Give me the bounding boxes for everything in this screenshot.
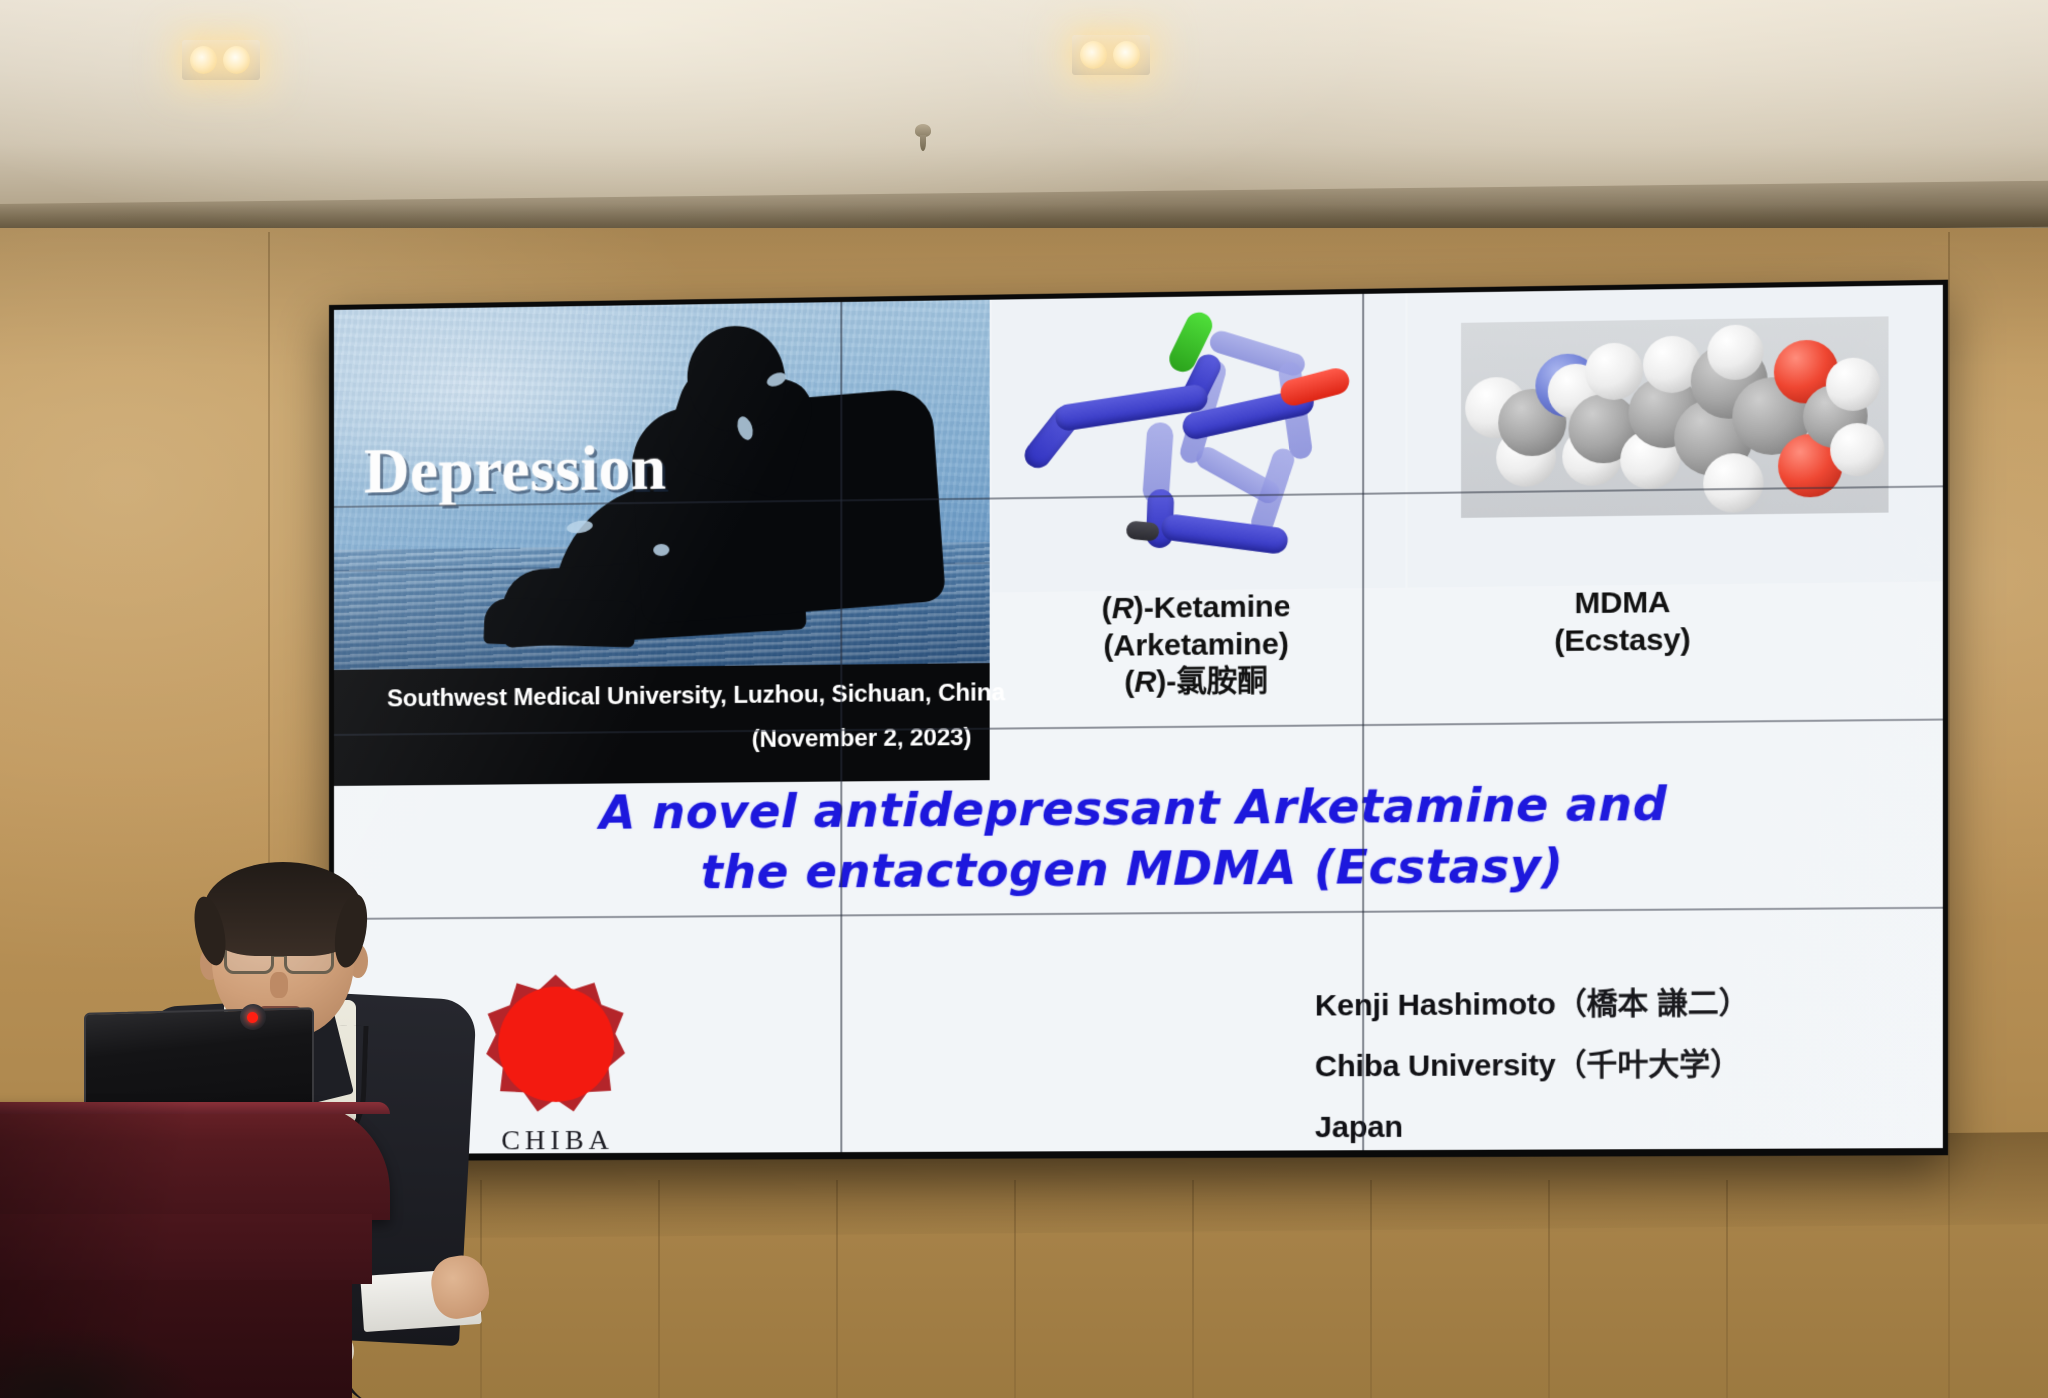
conference-room-scene: Depression Southwest Medical University,… bbox=[0, 0, 2048, 1398]
presentation-slide: Depression Southwest Medical University,… bbox=[334, 285, 1943, 1154]
videowall-bezel-seam bbox=[1362, 294, 1364, 1150]
mdma-alias: (Ecstasy) bbox=[1405, 620, 1840, 662]
ceiling-light-bulb bbox=[1113, 41, 1140, 69]
video-wall-display[interactable]: Depression Southwest Medical University,… bbox=[329, 280, 1948, 1161]
atom-hydrogen bbox=[1826, 357, 1880, 411]
depression-title: Depression bbox=[364, 431, 667, 508]
slide-headline: A novel antidepressant Arketamine and th… bbox=[334, 772, 1943, 906]
wall-panel-seam bbox=[1726, 1180, 1728, 1398]
mdma-molecule bbox=[1407, 285, 1942, 588]
depression-photo: Depression bbox=[334, 300, 990, 670]
arketamine-alias: (Arketamine) bbox=[992, 625, 1402, 666]
arketamine-molecule bbox=[992, 293, 1406, 592]
arketamine-name-cn: (R)-氯胺酮 bbox=[992, 662, 1402, 703]
mdma-name: MDMA bbox=[1405, 583, 1840, 625]
headline-line-2: the entactogen MDMA (Ecstasy) bbox=[334, 833, 1943, 906]
atom-hydrogen bbox=[1703, 453, 1763, 513]
sprinkler-drop bbox=[920, 135, 926, 151]
photo-caption-bar: Southwest Medical University, Luzhou, Si… bbox=[334, 663, 990, 786]
wall-panel-seam bbox=[658, 1180, 660, 1398]
mol-hydrogen-atom bbox=[1125, 520, 1159, 541]
mdma-label: MDMA (Ecstasy) bbox=[1405, 583, 1840, 662]
author-affiliation: Chiba University（千叶大学） bbox=[1315, 1035, 1750, 1098]
ceiling-light-bulb bbox=[223, 46, 250, 74]
videowall-bezel-seam bbox=[334, 907, 1943, 920]
videowall-bezel-seam bbox=[840, 302, 842, 1152]
atom-hydrogen bbox=[1830, 423, 1884, 477]
wall-panel-seam bbox=[1548, 1180, 1550, 1398]
foreground-shadow bbox=[0, 1328, 200, 1398]
mic-status-led bbox=[247, 1012, 258, 1023]
molecule-labels: (R)-Ketamine (Arketamine) (R)-氯胺酮 MDMA (… bbox=[992, 581, 1943, 780]
sprinkler-icon bbox=[912, 124, 934, 154]
author-name: Kenji Hashimoto（橋本 謙二） bbox=[1315, 973, 1750, 1036]
ceiling-light-left bbox=[182, 40, 260, 80]
author-country: Japan bbox=[1315, 1096, 1750, 1154]
wall-panel-seam bbox=[1014, 1180, 1016, 1398]
silhouette-foot bbox=[483, 598, 635, 648]
wall-panel-seam bbox=[836, 1180, 838, 1398]
wall-panel-seam bbox=[1370, 1180, 1372, 1398]
arketamine-name: (R)-Ketamine bbox=[992, 588, 1402, 630]
chiba-seal-circle-icon bbox=[498, 986, 614, 1102]
ceiling-light-right bbox=[1072, 35, 1150, 75]
presenter-nose bbox=[270, 972, 288, 998]
arketamine-label: (R)-Ketamine (Arketamine) (R)-氯胺酮 bbox=[992, 588, 1402, 704]
caption-venue: Southwest Medical University, Luzhou, Si… bbox=[387, 679, 1005, 713]
author-block: Kenji Hashimoto（橋本 謙二） Chiba University（… bbox=[1315, 973, 1750, 1154]
ceiling-light-bulb bbox=[1080, 41, 1107, 69]
wall-panel-seam bbox=[1192, 1180, 1194, 1398]
ceiling-light-bulb bbox=[190, 46, 217, 74]
